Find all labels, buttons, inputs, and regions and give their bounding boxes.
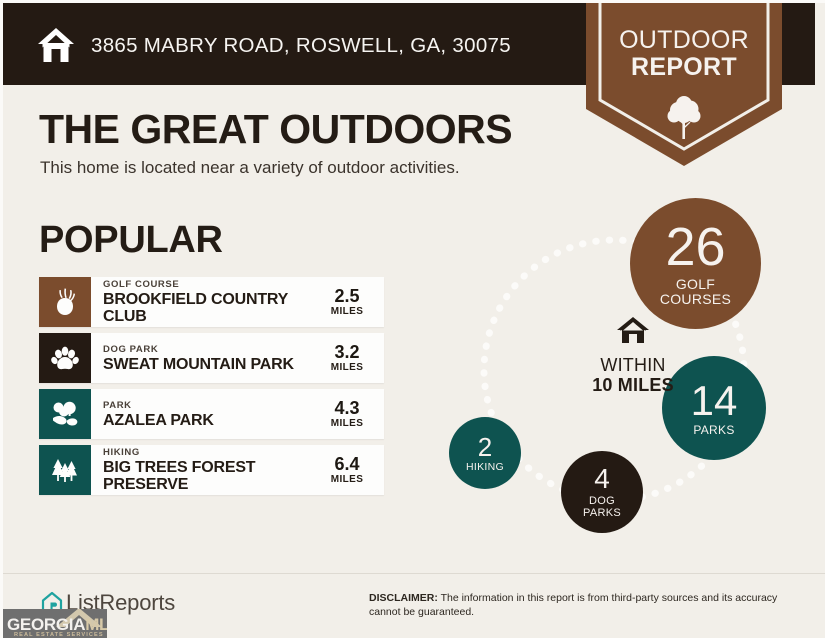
- georgia-mls-logo[interactable]: GEORGIAMLS REAL ESTATE SERVICES: [3, 609, 107, 638]
- list-item[interactable]: GOLF COURSE BROOKFIELD COUNTRY CLUB 2.5 …: [39, 277, 384, 327]
- bubble-label: DOGPARKS: [583, 495, 621, 519]
- outdoor-report-page: 3865 MABRY ROAD, ROSWELL, GA, 30075 OUTD…: [0, 0, 825, 638]
- poi-name: AZALEA PARK: [103, 412, 316, 429]
- poi-icon-wrap: [39, 445, 91, 495]
- gmls-tagline: REAL ESTATE SERVICES: [14, 632, 104, 638]
- poi-icon-wrap: [39, 333, 91, 383]
- paw-print-icon: [50, 343, 80, 373]
- poi-distance-unit: MILES: [331, 474, 364, 486]
- poi-icon-wrap: [39, 277, 91, 327]
- golf-flag-icon: [50, 287, 80, 317]
- bubble-label: GOLFCOURSES: [660, 277, 731, 307]
- bubble-count: 26: [665, 220, 725, 274]
- list-item[interactable]: DOG PARK SWEAT MOUNTAIN PARK 3.2 MILES: [39, 333, 384, 383]
- diagram-center: WITHIN 10 MILES: [553, 316, 713, 395]
- badge-title-line1: OUTDOOR: [586, 27, 782, 54]
- poi-distance: 6.4 MILES: [316, 445, 384, 495]
- list-item[interactable]: PARK AZALEA PARK 4.3 MILES: [39, 389, 384, 439]
- page-subtitle: This home is located near a variety of o…: [40, 158, 460, 178]
- badge-title: OUTDOOR REPORT: [586, 27, 782, 81]
- center-line-2: 10 MILES: [553, 375, 713, 395]
- bubble-golf-courses: 26 GOLFCOURSES: [630, 198, 761, 329]
- bubble-hiking: 2 HIKING: [449, 417, 521, 489]
- poi-name: BROOKFIELD COUNTRY CLUB: [103, 291, 316, 325]
- bubble-count: 4: [594, 465, 610, 493]
- poi-distance-value: 3.2: [334, 343, 359, 362]
- popular-heading: POPULAR: [39, 219, 223, 262]
- poi-text: DOG PARK SWEAT MOUNTAIN PARK: [91, 333, 316, 383]
- poi-text: GOLF COURSE BROOKFIELD COUNTRY CLUB: [91, 277, 316, 327]
- poi-icon-wrap: [39, 389, 91, 439]
- center-line-1: WITHIN: [553, 355, 713, 375]
- poi-category: GOLF COURSE: [103, 279, 316, 291]
- poi-category: DOG PARK: [103, 344, 316, 356]
- poi-distance: 2.5 MILES: [316, 277, 384, 327]
- poi-category: PARK: [103, 400, 316, 412]
- bubble-count: 2: [478, 434, 492, 460]
- poi-distance-unit: MILES: [331, 418, 364, 430]
- badge-title-line2: REPORT: [586, 54, 782, 81]
- poi-distance-value: 6.4: [334, 455, 359, 474]
- poi-distance-unit: MILES: [331, 362, 364, 374]
- bubble-label: HIKING: [466, 461, 504, 473]
- popular-list: GOLF COURSE BROOKFIELD COUNTRY CLUB 2.5 …: [39, 277, 384, 501]
- amenities-bubble-diagram: 26 GOLFCOURSES 14 PARKS 4 DOGPARKS 2 HIK…: [433, 188, 825, 558]
- poi-distance: 3.2 MILES: [316, 333, 384, 383]
- poi-name: BIG TREES FOREST PRESERVE: [103, 459, 316, 493]
- disclaimer-label: DISCLAIMER:: [369, 592, 438, 604]
- home-icon: [36, 25, 76, 65]
- list-item[interactable]: HIKING BIG TREES FOREST PRESERVE 6.4 MIL…: [39, 445, 384, 495]
- poi-distance-value: 4.3: [334, 399, 359, 418]
- disclaimer: DISCLAIMER: The information in this repo…: [369, 591, 789, 619]
- home-icon: [616, 316, 650, 344]
- poi-text: PARK AZALEA PARK: [91, 389, 316, 439]
- bubble-dog-parks: 4 DOGPARKS: [561, 451, 643, 533]
- park-tree-icon: [50, 399, 80, 429]
- poi-category: HIKING: [103, 447, 316, 459]
- poi-text: HIKING BIG TREES FOREST PRESERVE: [91, 445, 316, 495]
- property-address: 3865 MABRY ROAD, ROSWELL, GA, 30075: [91, 34, 511, 58]
- poi-distance: 4.3 MILES: [316, 389, 384, 439]
- pine-trees-icon: [50, 455, 80, 485]
- poi-distance-unit: MILES: [331, 306, 364, 318]
- poi-name: SWEAT MOUNTAIN PARK: [103, 356, 316, 373]
- poi-distance-value: 2.5: [334, 287, 359, 306]
- page-title: THE GREAT OUTDOORS: [39, 106, 512, 153]
- bubble-label: PARKS: [693, 424, 734, 437]
- tree-icon: [666, 96, 702, 140]
